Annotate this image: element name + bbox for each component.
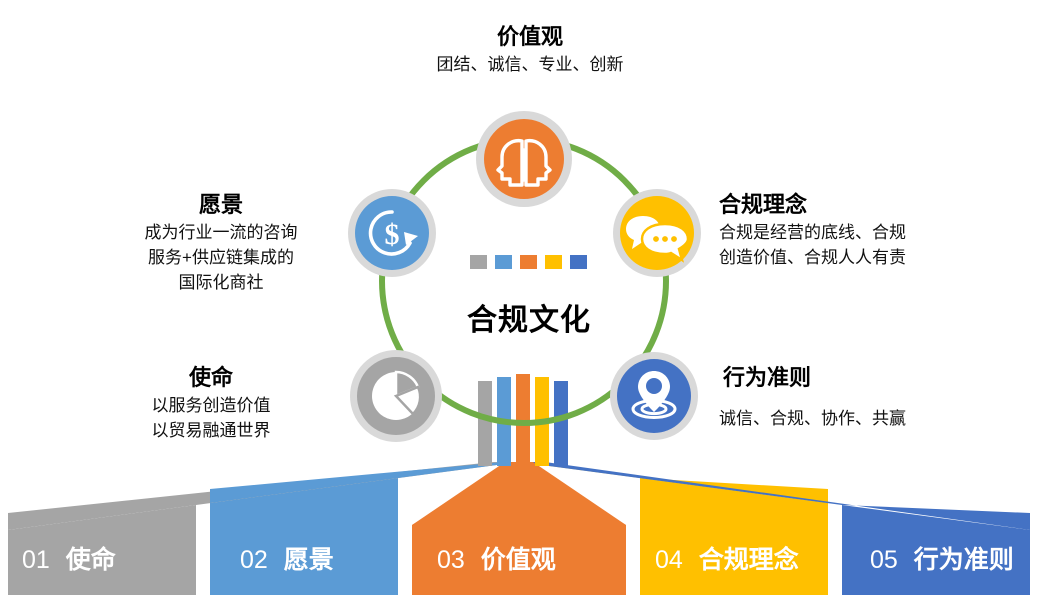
node-compliance[interactable] [613,189,701,277]
ribbon-number-05: 05 [870,546,898,574]
label-conduct-title: 行为准则 [723,363,989,393]
ribbon-text-01: 使命 [66,546,116,574]
label-values-title: 价值观 [390,22,670,52]
ribbon-number-03: 03 [437,546,465,574]
ribbon-label-03[interactable]: 03 价值观 [437,540,556,576]
label-conduct: 行为准则 诚信、合规、协作、共赢 [719,363,989,431]
label-mission-line-0: 以服务创造价值 [86,393,336,418]
node-values[interactable] [476,111,572,207]
label-compliance-line-0: 合规是经营的底线、合规 [719,220,989,245]
node-mission[interactable] [350,350,442,442]
swatch-blue [570,255,587,269]
ribbon-label-02[interactable]: 02 愿景 [240,540,334,576]
label-conduct-line-0: 诚信、合规、协作、共赢 [719,406,989,431]
label-compliance: 合规理念 合规是经营的底线、合规 创造价值、合规人人有责 [719,190,989,270]
svg-text:$: $ [385,218,400,251]
center-swatches [470,255,588,269]
ribbon-label-01[interactable]: 01 使命 [22,540,116,576]
ribbon-label-05[interactable]: 05 行为准则 [870,540,1014,576]
label-vision: 愿景 成为行业一流的咨询 服务+供应链集成的 国际化商社 [96,190,346,295]
label-mission-line-1: 以贸易融通世界 [86,418,336,443]
swatch-orange [520,255,537,269]
ribbon-text-03: 价值观 [481,546,556,574]
ribbon-number-02: 02 [240,546,268,574]
node-conduct[interactable] [610,352,698,440]
swatch-lightblue [495,255,512,269]
center-title: 合规文化 [399,295,659,339]
swatch-gray [470,255,487,269]
label-values-line-0: 团结、诚信、专业、创新 [390,52,670,77]
label-vision-line-2: 国际化商社 [96,270,346,295]
bar-stem-blue [554,381,568,466]
label-vision-title: 愿景 [96,190,346,220]
label-compliance-line-1: 创造价值、合规人人有责 [719,245,989,270]
label-mission-title: 使命 [86,363,336,393]
label-vision-line-0: 成为行业一流的咨询 [96,220,346,245]
node-vision[interactable]: $ [348,189,436,277]
ribbon-label-04[interactable]: 04 合规理念 [655,540,799,576]
ribbon-text-04: 合规理念 [699,546,799,574]
ribbon-text-02: 愿景 [284,546,334,574]
ribbon-text-05: 行为准则 [914,546,1014,574]
ribbon-number-04: 04 [655,546,683,574]
swatch-yellow [545,255,562,269]
label-values: 价值观 团结、诚信、专业、创新 [390,22,670,77]
pie-chart-icon [372,372,420,420]
ribbon-number-01: 01 [22,546,50,574]
label-compliance-title: 合规理念 [719,190,989,220]
label-mission: 使命 以服务创造价值 以贸易融通世界 [86,363,336,443]
infographic-canvas: $ [0,0,1039,605]
bar-stem-gray [478,381,492,466]
label-vision-line-1: 服务+供应链集成的 [96,245,346,270]
